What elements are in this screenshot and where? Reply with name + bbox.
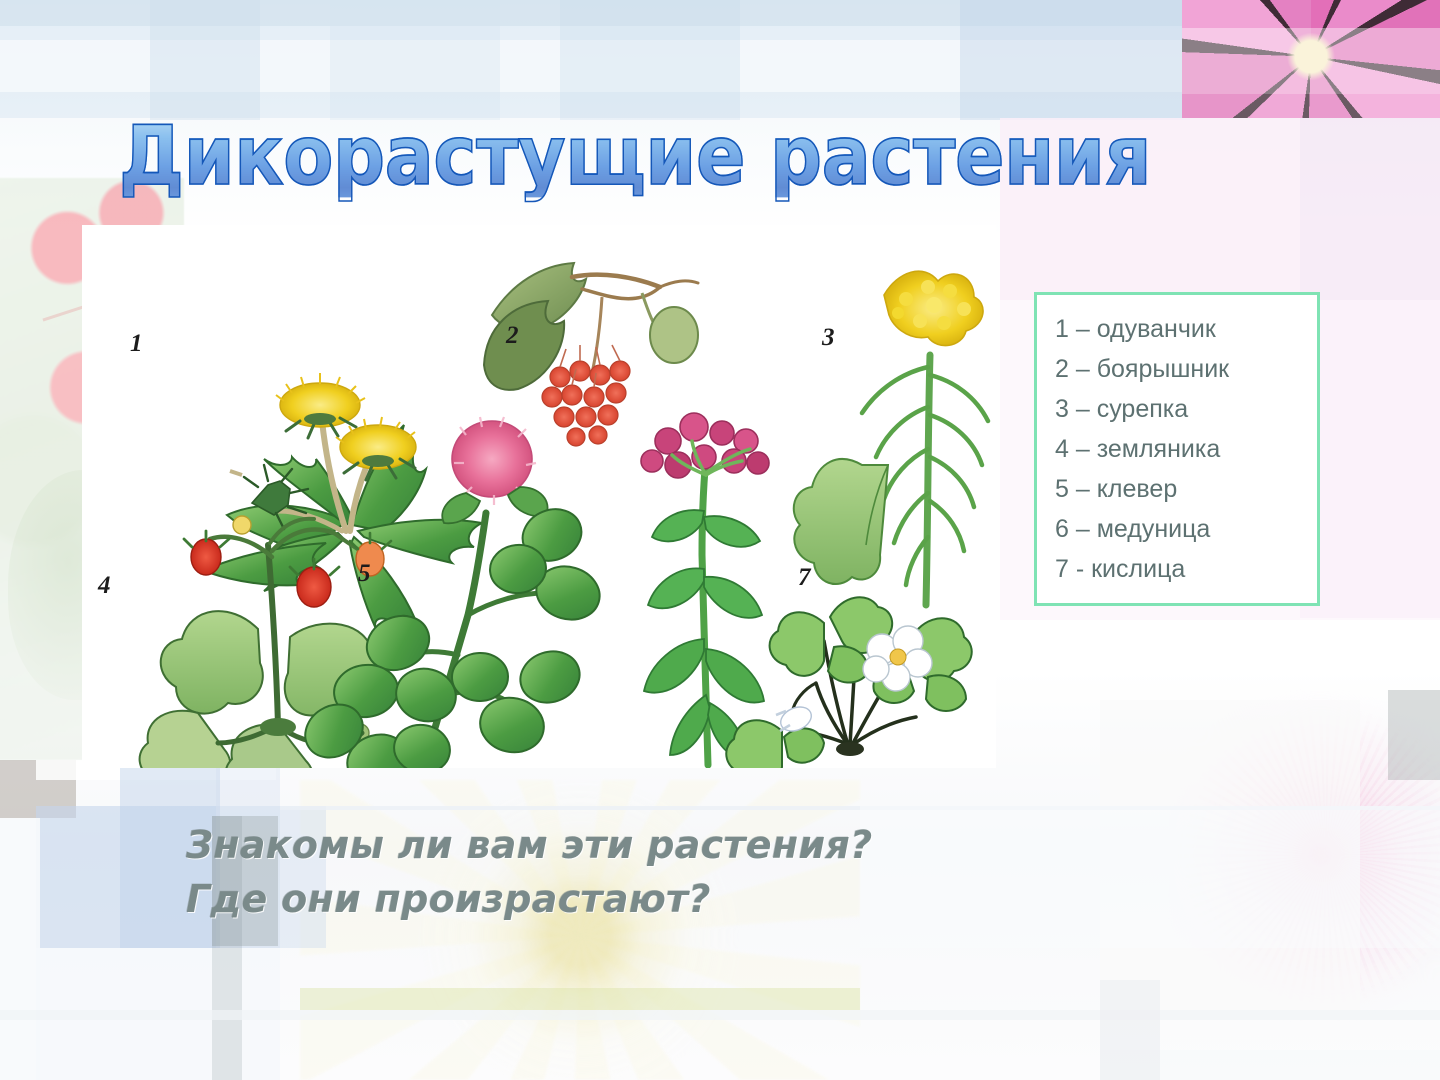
clematis-flower-photo — [1182, 0, 1440, 118]
plant-clover — [295, 417, 606, 768]
top-band-1 — [0, 0, 1440, 26]
legend-item-2: 2 – боярышник — [1055, 349, 1317, 389]
lungwort-flowers — [641, 413, 769, 478]
plant-wood-sorrel — [726, 597, 971, 768]
top-band-3 — [0, 40, 1440, 92]
mid-band-1 — [280, 806, 1440, 810]
bottom-left-block-7 — [0, 818, 40, 1080]
legend-item-3: 3 – сурепка — [1055, 389, 1317, 429]
question-line-1: Знакомы ли вам эти растения? — [186, 818, 1086, 872]
right-grey-block-1 — [1388, 690, 1440, 780]
clematis-overlay-band-1 — [1182, 28, 1440, 94]
top-column-b — [330, 0, 500, 120]
right-grey-block-3 — [1100, 980, 1160, 1080]
right-grey-block-2 — [1100, 1050, 1440, 1080]
mid-band-2 — [0, 1010, 1440, 1020]
top-band-2 — [0, 26, 1440, 40]
plant-number-4: 4 — [97, 572, 111, 599]
top-column-a — [150, 0, 260, 120]
legend-item-5: 5 – клевер — [1055, 469, 1317, 509]
legend-item-1: 1 – одуванчик — [1055, 309, 1317, 349]
title-container: Дикорастущие растения — [60, 112, 1210, 200]
slide-canvas: Дикорастущие растения — [0, 0, 1440, 1080]
top-column-d — [960, 0, 1190, 120]
plant-lungwort — [641, 413, 769, 765]
legend-item-6: 6 – медуница — [1055, 509, 1317, 549]
clematis-overlay-band-3 — [1182, 94, 1440, 118]
bottom-left-block-1 — [0, 760, 76, 818]
sorrel-bud — [776, 683, 816, 736]
legend-item-4: 4 – земляника — [1055, 429, 1317, 469]
daisy-overlay-band — [300, 988, 860, 1010]
plant-winter-cress — [794, 271, 988, 605]
clematis-overlay-band-2 — [1182, 0, 1440, 28]
plant-number-7: 7 — [798, 564, 812, 591]
plant-number-5: 5 — [358, 560, 371, 587]
plant-legend-box: 1 – одуванчик 2 – боярышник 3 – сурепка … — [1034, 292, 1320, 606]
plant-number-3: 3 — [821, 324, 835, 351]
legend-list: 1 – одуванчик 2 – боярышник 3 – сурепка … — [1037, 295, 1317, 589]
plant-number-1: 1 — [130, 330, 143, 357]
plant-number-2: 2 — [505, 322, 519, 349]
plant-illustration-panel: 1 — [82, 225, 996, 768]
legend-item-7: 7 - кислица — [1055, 549, 1317, 589]
plant-hawthorn — [484, 263, 698, 446]
pink-mimosa-rays — [1170, 690, 1440, 1020]
top-column-c — [560, 0, 740, 120]
plant-illustrations-svg: 1 — [82, 225, 996, 768]
bottom-left-block-8 — [36, 948, 280, 1080]
hawthorn-berries — [542, 345, 630, 446]
mimosa-veil-overlay — [1100, 700, 1360, 1020]
question-line-2: Где они произрастают? — [186, 872, 1086, 926]
page-title: Дикорастущие растения — [119, 115, 1151, 197]
plant-dandelion — [210, 373, 482, 629]
question-block: Знакомы ли вам эти растения? Где они про… — [186, 818, 1086, 926]
right-tint-2 — [1300, 118, 1440, 618]
pink-mimosa-photo — [1170, 690, 1440, 1020]
